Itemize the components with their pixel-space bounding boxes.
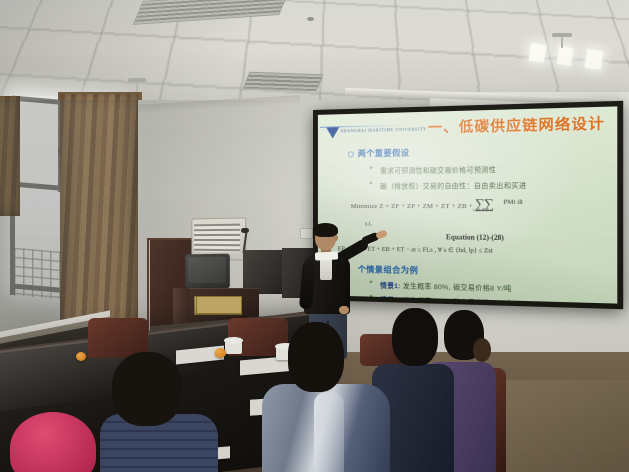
microphone-icon (241, 228, 249, 233)
audience-member-5 (10, 412, 100, 472)
wall-plaque (196, 296, 242, 314)
audience-head (112, 352, 182, 426)
air-conditioner-vents (194, 224, 240, 253)
knit-hat (10, 412, 96, 472)
smoke-detector-icon (307, 17, 314, 21)
ceiling-drop-rod (561, 36, 563, 48)
presenter-collar (315, 251, 338, 260)
ceiling-light (585, 49, 604, 70)
ceiling-drop-bracket (552, 33, 572, 37)
audience-hair-bun (473, 338, 491, 362)
audience-jacket-stripe (314, 392, 344, 472)
audience-head (392, 308, 438, 366)
ceiling-vent-icon (243, 72, 324, 92)
ceiling-drop-bracket (128, 78, 146, 82)
monitor-screen (188, 257, 226, 284)
orange-fruit (215, 348, 226, 358)
cup-lid (224, 337, 243, 344)
audience-member-1 (96, 352, 216, 472)
presenter-shirt (320, 258, 332, 280)
audience-head (288, 322, 344, 392)
ceiling-light (557, 46, 574, 66)
presenter-hand (339, 306, 349, 314)
presenter-ear (334, 235, 338, 241)
orange-fruit (76, 352, 86, 361)
screenshot-root: SHANGHAI MARITIME UNIVERSITY 一、低碳供应链网络设计… (0, 0, 629, 472)
ceiling-light (529, 43, 547, 63)
audience-member-2 (262, 322, 382, 472)
